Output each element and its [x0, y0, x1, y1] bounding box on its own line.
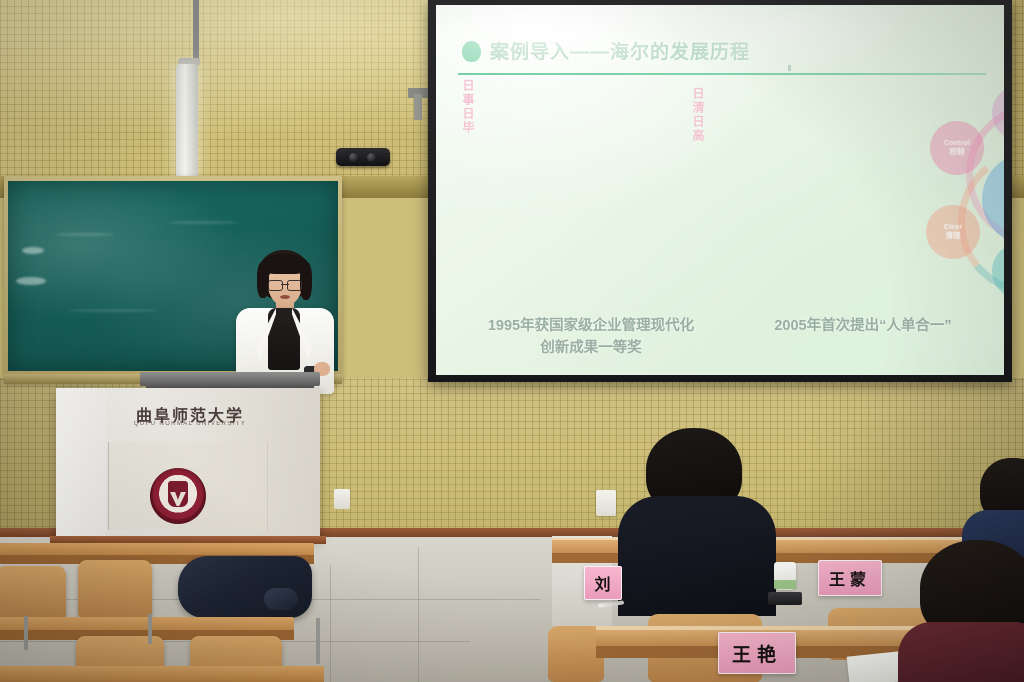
classroom-scene: 案例导入——海尔的发展历程 日事日毕 日清日高 OEC 管理法 Overall …: [0, 0, 1024, 682]
chair: [0, 566, 66, 620]
slide-divider: [458, 73, 986, 75]
wall-camera-icon: [336, 148, 390, 166]
oec-side-label-left: 日事日毕: [460, 79, 477, 135]
audience-member-body: [898, 622, 1024, 682]
oec-node-control: Control 控制: [930, 121, 984, 175]
university-crest-icon: [150, 468, 206, 524]
ceiling-light-icon: [176, 64, 198, 182]
camera-lens-icon: [349, 153, 358, 162]
slide-caption-left: 1995年获国家级企业管理现代化 创新成果一等奖: [466, 315, 716, 360]
chair: [78, 560, 152, 618]
oec-node-clear: Clear 清理: [926, 205, 980, 259]
slide-content: 案例导入——海尔的发展历程 日事日毕 日清日高 OEC 管理法 Overall …: [436, 5, 1004, 375]
podium-side-face: [56, 388, 106, 540]
chair-leg: [316, 618, 320, 664]
chair-leg: [24, 616, 28, 650]
caption-line-1: 1995年获国家级企业管理现代化: [466, 315, 716, 337]
oec-node-cn: 清理: [946, 232, 961, 240]
oec-side-label-right: 日清日高: [690, 87, 707, 143]
wall-outlet-icon: [334, 489, 350, 509]
university-name-en: QUFU NORMAL UNIVERSITY: [110, 421, 270, 427]
projection-screen: 案例导入——海尔的发展历程 日事日毕 日清日高 OEC 管理法 Overall …: [436, 5, 1004, 375]
oec-wheel-diagram: OEC 管理法 Overall 全方位 Control 控制 Clear 清理 …: [914, 87, 1004, 317]
presenter-mouth: [280, 295, 290, 299]
slide-title: 案例导入——海尔的发展历程: [490, 37, 750, 64]
desk-row-left-3: [0, 666, 324, 682]
cup-band: [774, 580, 796, 589]
glasses-icon: [268, 280, 302, 289]
caption-line-2: 创新成果一等奖: [466, 337, 716, 359]
presenter: [228, 250, 340, 392]
chair-leg: [148, 614, 152, 644]
slide-tick-mark: [788, 65, 791, 71]
name-placard: 王蒙: [818, 560, 882, 596]
name-placard: 刘: [584, 566, 622, 600]
camera-lens-icon: [367, 153, 376, 162]
smartphone: [768, 592, 802, 605]
slide-caption-right: 2005年首次提出“人单合一”: [738, 315, 988, 337]
wall-outlet-icon: [596, 490, 616, 516]
lamp-track: [193, 0, 199, 60]
slide-bullet-icon: [462, 41, 481, 62]
audience-member-body: [618, 496, 776, 616]
folded-coat: [178, 556, 312, 618]
screen-arm: [414, 94, 422, 120]
name-placard: 王艳: [718, 632, 796, 674]
oec-node-cn: 控制: [950, 148, 965, 156]
